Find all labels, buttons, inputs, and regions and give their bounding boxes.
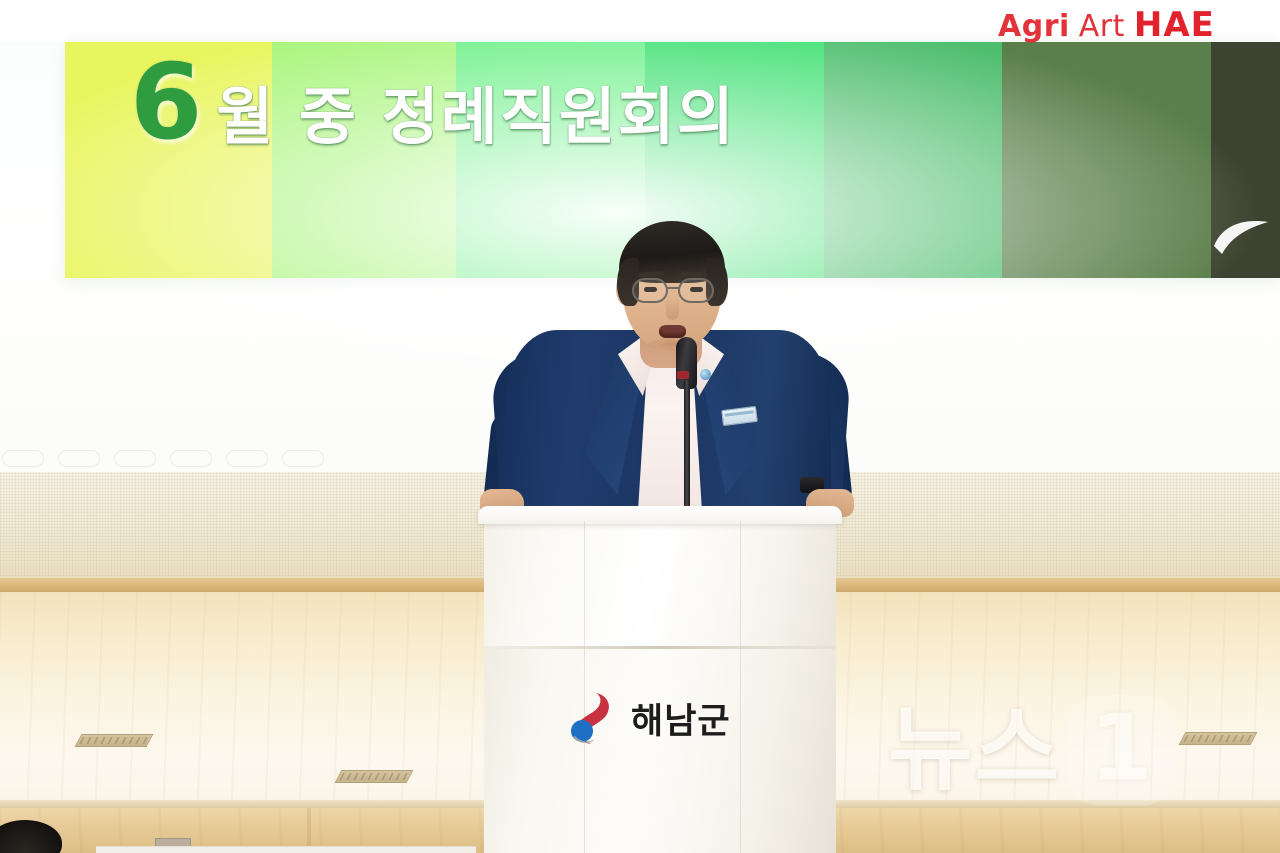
eyeglasses-left-lens-icon: [632, 278, 668, 303]
eyeglasses-bridge: [667, 287, 679, 289]
podium-panel-seam-right: [740, 521, 741, 853]
podium-upper-section: [484, 521, 836, 649]
speaker-mouth-open: [659, 325, 686, 338]
microphone-red-band: [677, 371, 689, 379]
eyeglasses-right-lens-icon: [678, 278, 714, 303]
podium-logo-lockup: 해남군: [566, 691, 731, 745]
podium: 해남군: [478, 506, 842, 853]
podium-organization-name: 해남군: [631, 693, 731, 744]
microphone-stem: [684, 380, 690, 508]
podium-lower-section: [484, 649, 836, 853]
podium-top-surface: [478, 506, 842, 524]
podium-panel-seam-left: [584, 521, 585, 853]
photo-scene: 6 월 중 정례직원회의 Agri Art HAE: [0, 0, 1280, 853]
korea-government-taegeuk-logo-icon: [566, 691, 618, 745]
lapel-pin-icon: [700, 369, 711, 380]
speaker-nose: [666, 296, 679, 320]
